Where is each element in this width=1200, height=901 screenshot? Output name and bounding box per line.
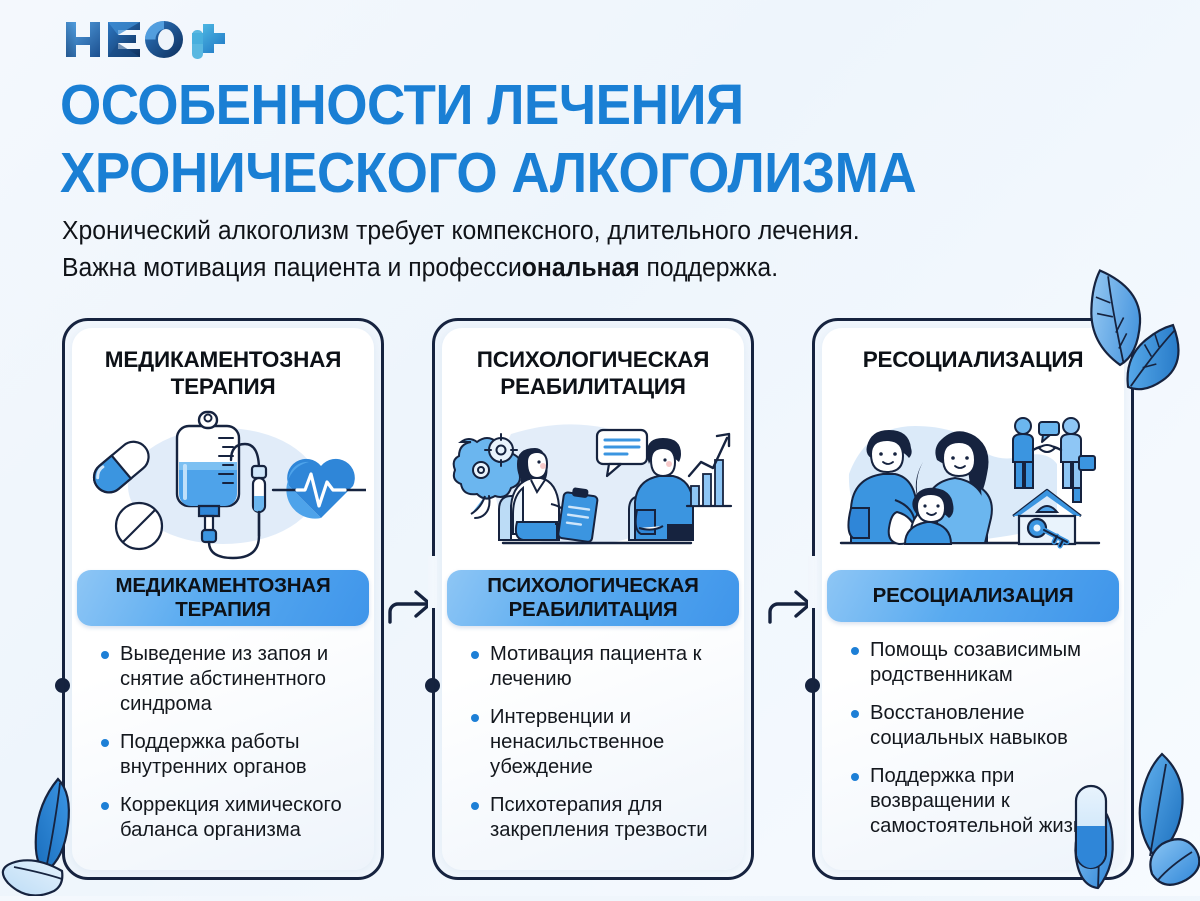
card-connector-dot (425, 678, 440, 693)
steps-container: МЕДИКАМЕНТОЗНАЯ ТЕРАПИЯ (0, 318, 1200, 880)
subtitle-text-bold: ональная (522, 254, 640, 282)
list-item: Поддержка работы внутренних органов (98, 730, 360, 780)
step-card-resocialization[interactable]: РЕСОЦИАЛИЗАЦИЯ (812, 318, 1134, 880)
subtitle-text-a: Важна мотивация пациента и професси (62, 254, 522, 282)
page-title-line-1: ОСОБЕННОСТИ ЛЕЧЕНИЯ (60, 72, 1064, 140)
page-subtitle-line-2: Важна мотивация пациента и профессиональ… (62, 250, 1090, 287)
card-bullet-list: Мотивация пациента к лечению Интервенции… (456, 642, 730, 856)
card-badge[interactable]: РЕСОЦИАЛИЗАЦИЯ (827, 570, 1119, 622)
brand-logo (62, 12, 237, 64)
page-title: ОСОБЕННОСТИ ЛЕЧЕНИЯ ХРОНИЧЕСКОГО АЛКОГОЛ… (60, 72, 1064, 208)
card-connector-dot (55, 678, 70, 693)
card-heading: МЕДИКАМЕНТОЗНАЯ ТЕРАПИЯ (86, 346, 360, 402)
card-bullet-list: Помощь созависимым родственникам Восстан… (836, 638, 1110, 852)
page-title-line-2: ХРОНИЧЕСКОГО АЛКОГОЛИЗМА (60, 140, 1064, 208)
list-item: Психотерапия для закрепления трезвости (468, 793, 730, 843)
card-frame-gap (428, 556, 437, 608)
page-subtitle-line-1: Хронический алкоголизм требует компексно… (62, 213, 1090, 250)
card-badge[interactable]: ПСИХОЛОГИЧЕСКАЯ РЕАБИЛИТАЦИЯ (447, 570, 739, 626)
list-item: Поддержка при возвращении к самостоятель… (848, 764, 1110, 839)
family-handshake-house-key-icon (831, 404, 1116, 564)
card-bullet-list: Выведение из запоя и снятие абстинентног… (86, 642, 360, 856)
list-item: Коррекция химического баланса организма (98, 793, 360, 843)
subtitle-text-c: поддержка. (640, 254, 778, 282)
step-card-psychological[interactable]: ПСИХОЛОГИЧЕСКАЯ РЕАБИЛИТАЦИЯ (432, 318, 754, 880)
page-subtitle: Хронический алкоголизм требует компексно… (62, 213, 1090, 287)
iv-drip-pills-heart-icon (81, 404, 366, 564)
list-item: Выведение из запоя и снятие абстинентног… (98, 642, 360, 717)
card-connector-dot (805, 678, 820, 693)
card-frame-gap (808, 556, 817, 608)
list-item: Интервенции и ненасильственное убеждение (468, 705, 730, 780)
card-heading: ПСИХОЛОГИЧЕСКАЯ РЕАБИЛИТАЦИЯ (456, 346, 730, 402)
card-heading: РЕСОЦИАЛИЗАЦИЯ (863, 346, 1084, 402)
list-item: Мотивация пациента к лечению (468, 642, 730, 692)
therapy-session-brain-chart-icon (451, 404, 736, 564)
list-item: Восстановление социальных навыков (848, 701, 1110, 751)
list-item: Помощь созависимым родственникам (848, 638, 1110, 688)
step-card-medication[interactable]: МЕДИКАМЕНТОЗНАЯ ТЕРАПИЯ (62, 318, 384, 880)
card-badge[interactable]: МЕДИКАМЕНТОЗНАЯ ТЕРАПИЯ (77, 570, 369, 626)
